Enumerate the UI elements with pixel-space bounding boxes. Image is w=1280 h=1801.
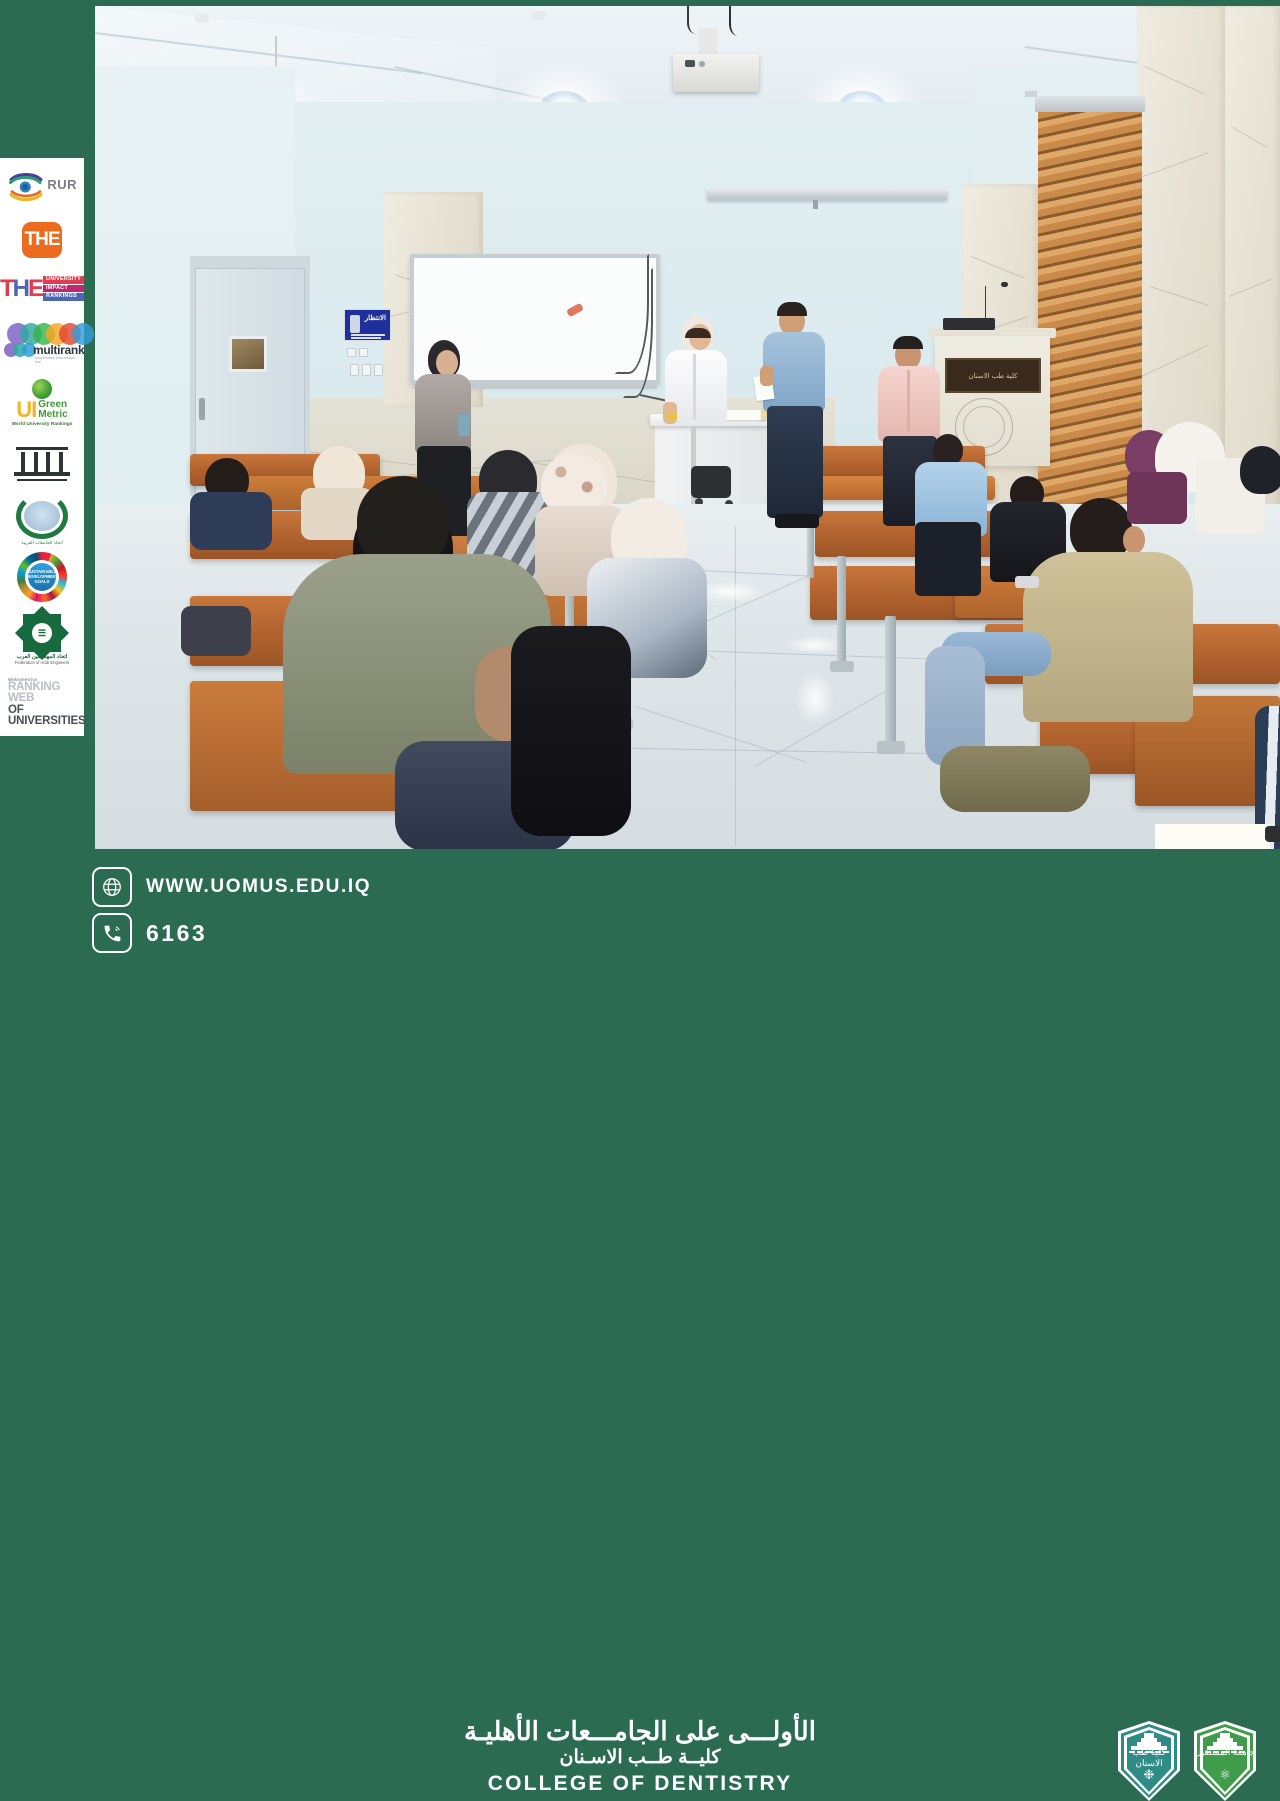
university-crest: جامعة المستقبل ⚛	[1194, 1721, 1256, 1801]
exam-paper[interactable]	[725, 410, 765, 420]
multirank-circles-small	[9, 343, 36, 357]
sunlight-patch	[795, 671, 835, 726]
accreditation-sidebar: RUR THE THE UNIVERSITY IMPACT RANKINGS	[0, 158, 84, 736]
greenmetric-caption: World University Rankings	[5, 421, 79, 426]
student-body	[181, 606, 251, 656]
wall-poster: الانتظار	[344, 309, 391, 341]
poster-background: RUR THE THE UNIVERSITY IMPACT RANKINGS	[0, 0, 1280, 960]
projector-lens	[699, 61, 705, 67]
greenmetric-metric: Metric	[38, 410, 67, 420]
student-hijab-dark	[1240, 446, 1280, 494]
atom-icon: ⚛	[1194, 1767, 1256, 1783]
sdg-line-3: GOALS	[35, 580, 50, 585]
poster-footer: WWW.UOMUS.EDU.IQ 6163 الأولـــى على الجا…	[0, 855, 1280, 960]
student-body	[1127, 472, 1187, 524]
phone-label: 6163	[146, 920, 207, 947]
impact-line-1: UNIVERSITY	[43, 276, 84, 284]
footer-subline-english: COLLEGE OF DENTISTRY	[330, 1772, 950, 1796]
invigilator-hand	[760, 366, 774, 386]
student-head-foreground	[357, 476, 449, 566]
webometrics-logo: Webometrics RANKING WEB OF UNIVERSITIES	[5, 677, 79, 728]
student-head	[1070, 498, 1132, 560]
phone-call-icon	[92, 913, 132, 953]
arab-universities-logo: اتحاد الجامعات العربية	[5, 493, 79, 541]
screen-pull[interactable]	[813, 200, 818, 209]
www-globe-icon	[92, 867, 132, 907]
coat-placket	[693, 354, 696, 420]
light-switch[interactable]	[359, 348, 368, 357]
power-socket[interactable]	[374, 364, 383, 376]
bench-leg	[837, 556, 846, 666]
invigilator-hair	[893, 336, 923, 349]
shirt-placket	[907, 370, 910, 432]
footer-crests: كلية طب الاسنان ❉	[1118, 1721, 1256, 1801]
poster-title: الانتظار	[365, 314, 386, 322]
webometrics-line-1: RANKING WEB	[8, 682, 80, 705]
student-body	[190, 492, 272, 550]
power-socket[interactable]	[350, 364, 359, 376]
invigilator-hand	[663, 402, 677, 424]
bench-foot	[830, 661, 854, 672]
blind-headrail[interactable]	[1035, 96, 1145, 112]
multirank-logo: multirank Universities information tool	[5, 319, 79, 367]
bench-foot	[877, 741, 905, 754]
impact-line-2: IMPACT	[43, 285, 84, 293]
sdg-wheel-icon: SUSTAINABLE DEVELOPMENT GOALS	[17, 552, 67, 602]
floor-tile-seam	[735, 526, 736, 846]
student-trousers	[915, 522, 981, 596]
smoke-detector	[195, 14, 209, 23]
student-ear	[1123, 526, 1145, 554]
projection-screen-roller[interactable]	[707, 188, 947, 200]
multirank-sub: Universities information tool	[35, 356, 79, 364]
poster-photo	[350, 315, 360, 333]
bench-leg	[885, 616, 896, 746]
invigilator-phone	[458, 414, 470, 436]
student-leg	[940, 746, 1090, 812]
invigilator-trousers	[767, 406, 823, 518]
tooth-icon: ❉	[1118, 1767, 1180, 1783]
sdg-wheel-logo: SUSTAINABLE DEVELOPMENT GOALS	[5, 552, 79, 602]
the-impact-rankings-logo: THE UNIVERSITY IMPACT RANKINGS	[5, 270, 79, 308]
the-impact-wordmark: THE	[0, 275, 42, 303]
door-window	[229, 336, 267, 372]
phone-contact[interactable]: 6163	[92, 913, 207, 953]
podium-plaque: كلية طب الاسنان	[945, 358, 1041, 393]
footer-title-block: الأولـــى على الجامـــعات الأهليـة كليــ…	[330, 1717, 950, 1796]
federation-arab-engineers-logo: ☰ اتحاد المهندسين العرب Federation of Ar…	[5, 614, 79, 665]
invigilator-face	[436, 350, 458, 376]
student-hand	[1265, 826, 1280, 842]
webometrics-line-2: OF UNIVERSITIES	[8, 705, 80, 728]
floor-reflection	[785, 636, 845, 654]
arab-universities-label: اتحاد الجامعات العربية	[7, 540, 77, 546]
footer-headline-arabic: الأولـــى على الجامـــعات الأهليـة	[330, 1717, 950, 1746]
projector-vent	[685, 60, 695, 67]
university-crest-text: جامعة المستقبل	[1194, 1747, 1256, 1758]
student-shirt-beige	[1023, 552, 1193, 722]
power-socket[interactable]	[362, 364, 371, 376]
greenmetric-ui: UI	[16, 400, 36, 420]
footer-subline-arabic: كليــة طــب الاسـنان	[330, 1747, 950, 1770]
website-contact[interactable]: WWW.UOMUS.EDU.IQ	[92, 867, 371, 907]
invigilator-hair	[777, 302, 807, 316]
dentistry-crest-text: كلية طب الاسنان	[1118, 1747, 1180, 1769]
office-chair[interactable]	[691, 466, 731, 498]
rur-label: RUR	[47, 177, 77, 192]
rur-logo: RUR	[5, 164, 79, 210]
multirank-label: multirank	[33, 343, 84, 357]
microphone-capsule	[1001, 282, 1008, 287]
invigilator-hair	[685, 328, 711, 338]
projector-cable	[729, 6, 751, 36]
wrist-watch	[1015, 576, 1039, 588]
wrist-watch	[667, 414, 677, 420]
greenmetric-globe-icon	[32, 379, 52, 399]
light-switch[interactable]	[347, 348, 356, 357]
podium-plaque-text: كلية طب الاسنان	[947, 360, 1039, 391]
exam-hall-photo: الانتظار كلية طب الاسنان	[95, 6, 1280, 849]
marble-column	[1137, 6, 1225, 476]
college-of-dentistry-crest: كلية طب الاسنان ❉	[1118, 1721, 1180, 1801]
ui-greenmetric-logo: UI Green Metric World University Ranking…	[5, 379, 79, 433]
smoke-detector	[532, 11, 546, 20]
door-handle[interactable]	[199, 398, 205, 420]
multirank-circles	[7, 323, 94, 345]
the-label: THE	[22, 222, 62, 258]
impact-line-3: RANKINGS	[43, 293, 84, 301]
unesco-temple-logo	[5, 445, 79, 481]
website-label: WWW.UOMUS.EDU.IQ	[146, 876, 371, 898]
invigilator-shoe	[775, 514, 819, 528]
the-logo: THE	[5, 222, 79, 258]
student-dark-clothing	[511, 626, 631, 836]
hijab-pattern	[541, 454, 607, 514]
exam-paper[interactable]	[1155, 824, 1270, 849]
foae-english: Federation of Arab Engineers	[7, 660, 77, 665]
wreath-icon	[16, 493, 68, 539]
temple-icon	[14, 445, 70, 481]
eight-point-star-icon: ☰	[23, 614, 61, 652]
blind-bracket	[1025, 91, 1037, 97]
